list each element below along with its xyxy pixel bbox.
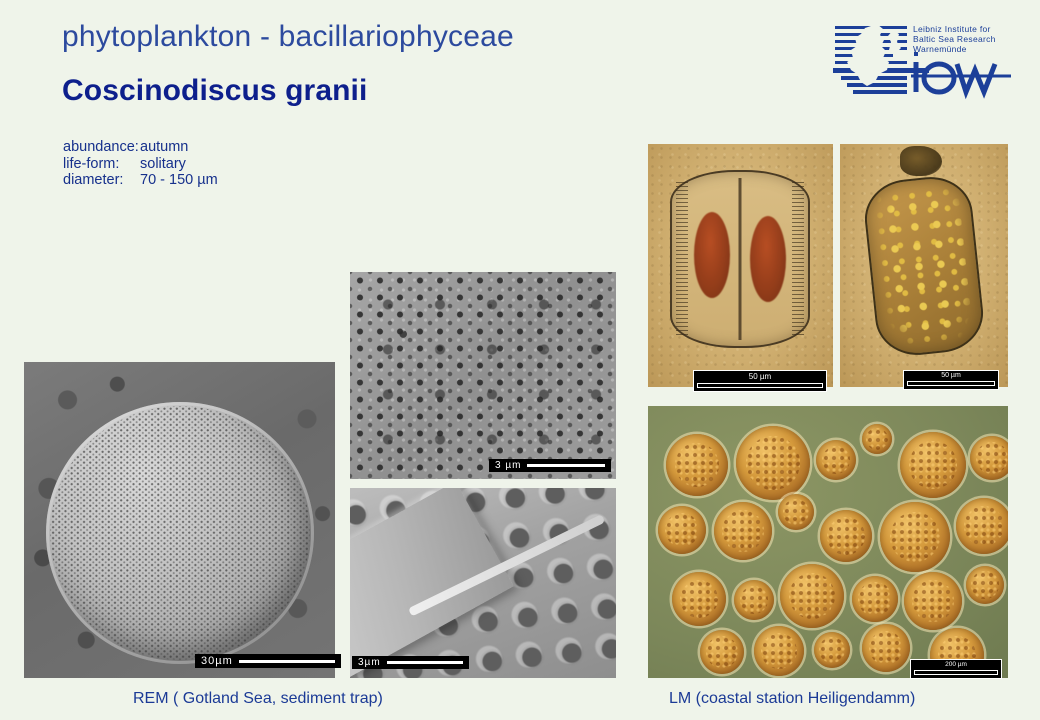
debris-particle [900, 146, 942, 176]
scalebar-label: 3µm [358, 657, 381, 668]
diatom-cell-valve-view [700, 630, 744, 674]
lm-girdle-view-image [648, 144, 833, 387]
diatom-cell-valve-view [816, 440, 856, 480]
striae-left [676, 182, 688, 336]
diatom-cell-valve-view [862, 424, 892, 454]
metadata-key-life-form: life-form: [63, 156, 140, 173]
diatom-cell-valve-view [778, 494, 814, 530]
diatom-cell-valve-view [672, 572, 726, 626]
diatom-cell-valve-view [734, 580, 774, 620]
metadata-row-abundance: abundance: autumn [63, 139, 218, 156]
scalebar-label: 30µm [201, 655, 233, 667]
diatom-cell-valve-view [820, 510, 872, 562]
diatom-cell-valve-view [780, 564, 844, 628]
lm-population-image [648, 406, 1008, 678]
scalebar-line [914, 670, 998, 675]
diatom-cell-girdle-view [670, 170, 810, 348]
oil-droplets [874, 186, 973, 346]
iow-logo: Leibniz Institute for Baltic Sea Researc… [833, 20, 1013, 100]
scalebar-label: 200 µm [914, 661, 998, 668]
diatom-cell-valve-view [966, 566, 1004, 604]
sem-whole-valve-image [24, 362, 335, 678]
metadata-value-diameter: 70 - 150 µm [140, 172, 218, 189]
metadata-value-life-form: solitary [140, 156, 186, 173]
diatom-cell-valve-view [900, 432, 966, 498]
diatom-cell-valve-view [970, 436, 1008, 480]
chloroplast-right [750, 216, 786, 302]
logo-line-3: Warnemünde [913, 44, 967, 54]
scalebar-label: 3 µm [495, 460, 521, 471]
scalebar-lm-girdle: 50 µm [693, 370, 827, 392]
metadata-value-abundance: autumn [140, 139, 188, 156]
iow-logo-graphic: Leibniz Institute for Baltic Sea Researc… [833, 20, 1013, 100]
metadata-key-diameter: diameter: [63, 172, 140, 189]
group-title: phytoplankton - bacillariophyceae [62, 20, 514, 54]
metadata-block: abundance: autumn life-form: solitary di… [63, 139, 218, 189]
valve-rim [46, 402, 314, 664]
metadata-key-abundance: abundance: [63, 139, 140, 156]
diatom-cell-valve-view [658, 506, 706, 554]
sem-areolae-detail-image [350, 272, 616, 479]
scalebar-line [697, 383, 823, 388]
scalebar-label: 50 µm [697, 372, 823, 381]
diatom-cell-oblique-view [861, 173, 987, 359]
lm-oblique-view-image [840, 144, 1008, 387]
diatom-cell-valve-view [880, 502, 950, 572]
diatom-cell-valve-view [714, 502, 772, 560]
caption-sem: REM ( Gotland Sea, sediment trap) [133, 690, 383, 708]
striae-right [792, 182, 804, 336]
scalebar-sem-valve: 30µm [195, 654, 341, 668]
logo-line-1: Leibniz Institute for [913, 24, 991, 34]
sem-pore-rows-image [350, 488, 616, 678]
slide-canvas: phytoplankton - bacillariophyceae Coscin… [0, 0, 1040, 720]
diatom-cell-valve-view [814, 632, 850, 668]
scalebar-line [527, 464, 605, 467]
areolae-texture [350, 272, 616, 479]
diatom-cell-valve-view [754, 626, 804, 676]
scalebar-line [907, 381, 995, 386]
scalebar-lm-valve: 50 µm [903, 370, 999, 390]
metadata-row-diameter: diameter: 70 - 150 µm [63, 172, 218, 189]
diatom-cell-valve-view [904, 572, 962, 630]
metadata-row-life-form: life-form: solitary [63, 156, 218, 173]
scalebar-line [387, 661, 463, 664]
logo-line-2: Baltic Sea Research [913, 34, 996, 44]
scalebar-lm-population: 200 µm [910, 659, 1002, 679]
scalebar-line [239, 660, 335, 663]
diatom-valve-disc [46, 402, 314, 664]
scalebar-label: 50 µm [907, 372, 995, 379]
diatom-cell-valve-view [862, 624, 910, 672]
caption-lm: LM (coastal station Heiligendamm) [669, 690, 915, 708]
scalebar-sem-pores: 3µm [352, 656, 469, 669]
chloroplast-left [694, 212, 730, 298]
diatom-cell-valve-view [666, 434, 728, 496]
scalebar-sem-areolae: 3 µm [489, 459, 611, 472]
species-title: Coscinodiscus granii [62, 74, 367, 108]
diatom-cell-valve-view [736, 426, 810, 500]
diatom-cell-valve-view [852, 576, 898, 622]
diatom-cell-valve-view [956, 498, 1008, 554]
